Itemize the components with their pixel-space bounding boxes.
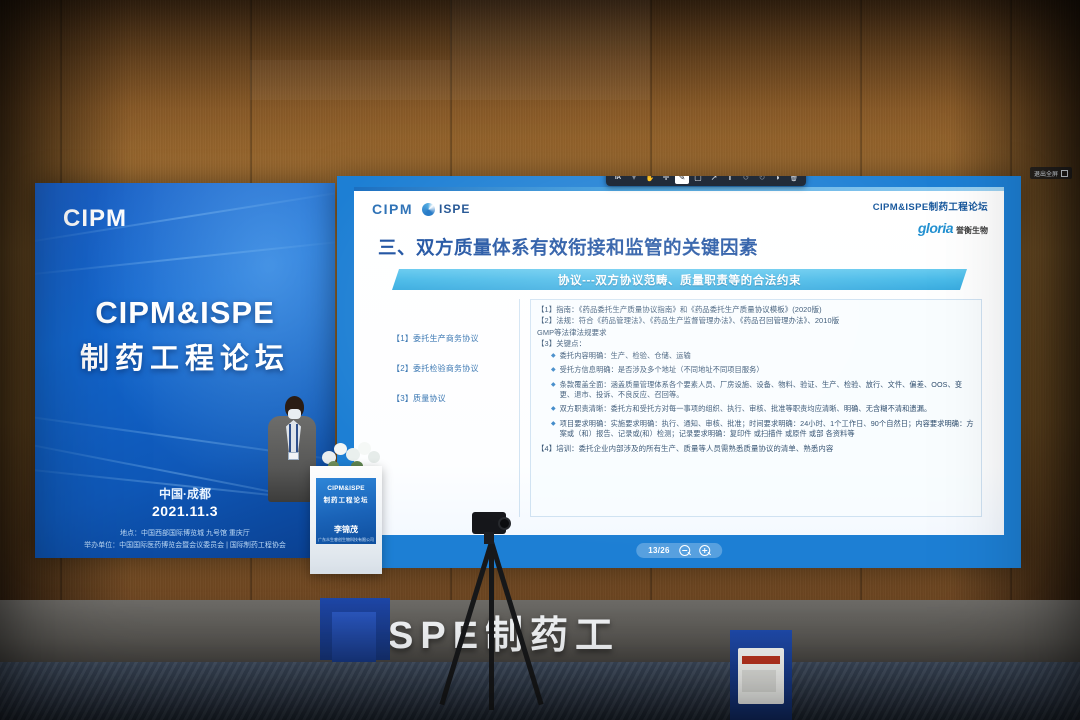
banner-date: 2021.11.3 bbox=[35, 503, 335, 519]
bullet-text: 双方职责清晰：委托方和受托方对每一事项的组织、执行、审核、批准等职责均应清晰、明… bbox=[560, 404, 932, 415]
bullet-list: ◆委托内容明确：生产、检验、仓储、运输 ◆受托方信息明确：是否涉及多个地址（不同… bbox=[551, 351, 975, 440]
list-item: ◆委托内容明确：生产、检验、仓储、运输 bbox=[551, 351, 975, 362]
slide-body: 【1】委托生产商务协议 【2】委托检验商务协议 【3】质量协议 【1】指南：《药… bbox=[392, 299, 982, 517]
ispe-globe-icon bbox=[422, 203, 435, 216]
diamond-bullet-icon: ◆ bbox=[551, 365, 556, 376]
exit-fullscreen-label: 退出全屏 bbox=[1034, 169, 1058, 178]
list-item: 【3】质量协议 bbox=[392, 393, 519, 404]
trash-icon[interactable]: 🗑 bbox=[787, 176, 801, 184]
hand-icon[interactable]: ✋ bbox=[643, 176, 657, 184]
tripod-leg bbox=[489, 542, 494, 710]
signage-accent bbox=[742, 656, 780, 664]
podium-line2: 制药工程论坛 bbox=[324, 494, 369, 504]
slide-content: CIPM ISPE CIPM&ISPE制药工程论坛 gloria 誉衡生物 三、… bbox=[354, 187, 1004, 535]
exit-fullscreen-button[interactable]: 退出全屏 bbox=[1030, 167, 1072, 179]
face-mask bbox=[288, 409, 301, 419]
podium-sign: CIPM&ISPE 制药工程论坛 李锦茂 广东众生睿创生物科技有限公司 bbox=[316, 478, 376, 544]
body-line-1: 【1】指南：《药品委托生产质量协议指南》和《药品委托生产质量协议模板》(2020… bbox=[537, 304, 975, 315]
list-item: ◆双方职责清晰：委托方和受托方对每一事项的组织、执行、审核、批准等职责均应清晰、… bbox=[551, 404, 975, 415]
lanyard bbox=[289, 424, 298, 454]
gloria-wordmark: gloria bbox=[918, 220, 953, 236]
body-line-2b: GMP等法律法规要求 bbox=[537, 327, 975, 338]
camera-lens bbox=[498, 517, 511, 530]
gloria-chinese-name: 誉衡生物 bbox=[956, 225, 988, 236]
slide-top-accent-bar bbox=[354, 187, 1004, 191]
fullscreen-icon bbox=[1061, 170, 1068, 177]
slide-right-column: 【1】指南：《药品委托生产质量协议指南》和《药品委托生产质量协议模板》(2020… bbox=[520, 299, 982, 517]
presentation-screen: IA ▾ ✋ ✛ ✎ ▢ ↗ T ↺ ↻ ◗ 🗑 CIPM ISPE CI bbox=[337, 176, 1021, 568]
bullet-text: 委托内容明确：生产、检验、仓储、运输 bbox=[560, 351, 691, 362]
zoom-out-icon[interactable] bbox=[679, 545, 690, 556]
page-indicator: 13/26 bbox=[648, 546, 670, 555]
banner-organizer: 举办单位：中国国际医药博览会暨会议委员会 | 国际制药工程协会 bbox=[35, 540, 335, 550]
rectangle-icon[interactable]: ▢ bbox=[691, 176, 705, 184]
body-line-3: 【3】关键点： bbox=[537, 338, 975, 349]
list-item: ◆受托方信息明确：是否涉及多个地址（不同地址不同项目服务） bbox=[551, 365, 975, 376]
name-badge bbox=[288, 452, 299, 460]
podium-speaker-org: 广东众生睿创生物科技有限公司 bbox=[318, 537, 374, 543]
move-icon[interactable]: ✛ bbox=[659, 176, 673, 184]
tripod-head bbox=[484, 532, 494, 544]
slide-header-left: CIPM ISPE bbox=[372, 201, 470, 217]
text-icon[interactable]: T bbox=[723, 176, 737, 184]
cipm-logo: CIPM bbox=[63, 205, 127, 233]
annotation-toolbar[interactable]: IA ▾ ✋ ✛ ✎ ▢ ↗ T ↺ ↻ ◗ 🗑 bbox=[606, 176, 806, 186]
pen-icon[interactable]: ✎ bbox=[675, 176, 689, 184]
ispe-label: ISPE bbox=[439, 202, 470, 216]
page-navigation-bar[interactable]: 13/26 bbox=[636, 543, 722, 558]
list-item: 【1】委托生产商务协议 bbox=[392, 333, 519, 344]
list-item: ◆项目要求明确：实施要求明确：执行、通知、审核、批准；时间要求明确：24小时、1… bbox=[551, 419, 975, 441]
diamond-bullet-icon: ◆ bbox=[551, 404, 556, 415]
redo-icon[interactable]: ↻ bbox=[755, 176, 769, 184]
ink-annotation-icon[interactable]: IA bbox=[611, 176, 625, 184]
carpet-floor bbox=[0, 662, 1080, 720]
list-item: 【2】委托检验商务协议 bbox=[392, 363, 519, 374]
slide-section-banner: 协议---双方协议范畴、质量职责等的合法约束 bbox=[392, 269, 967, 290]
body-line-2: 【2】法规：符合《药品管理法》、《药品生产监督管理办法》、《药品召回管理办法》、… bbox=[537, 315, 975, 326]
bullet-text: 条款覆盖全面：涵盖质量管理体系各个要素人员、厂房设施、设备、物料、验证、生产、检… bbox=[560, 380, 975, 402]
list-item: ◆条款覆盖全面：涵盖质量管理体系各个要素人员、厂房设施、设备、物料、验证、生产、… bbox=[551, 380, 975, 402]
slide-title: 三、双方质量体系有效衔接和监管的关键因素 bbox=[378, 234, 758, 260]
arrow-icon[interactable]: ↗ bbox=[707, 176, 721, 184]
slide-text-box: 【1】指南：《药品委托生产质量协议指南》和《药品委托生产质量协议模板》(2020… bbox=[530, 299, 982, 517]
slide-cipm-logo: CIPM bbox=[372, 201, 413, 217]
undo-icon[interactable]: ↺ bbox=[739, 176, 753, 184]
slide-section-banner-text: 协议---双方协议范畴、质量职责等的合法约束 bbox=[558, 272, 801, 288]
banner-title-line1: CIPM&ISPE bbox=[35, 295, 335, 331]
banner-venue: 地点：中国西部国际博览城 九号馆 重庆厅 bbox=[35, 528, 335, 538]
zoom-in-icon[interactable] bbox=[699, 545, 710, 556]
podium-speaker-name: 李锦茂 bbox=[334, 524, 358, 535]
banner-title-line2: 制药工程论坛 bbox=[35, 335, 335, 377]
bullet-text: 受托方信息明确：是否涉及多个地址（不同地址不同项目服务） bbox=[560, 365, 764, 376]
draped-table-left-front bbox=[332, 612, 376, 662]
podium-line1: CIPM&ISPE bbox=[327, 485, 365, 492]
signage-body bbox=[742, 670, 776, 692]
slide-ispe-logo: ISPE bbox=[422, 202, 470, 216]
body-line-4: 【4】培训：委托企业内部涉及的所有生产、质量等人员需熟悉质量协议的清单、熟悉内容 bbox=[537, 443, 975, 454]
sponsor-logo: gloria 誉衡生物 bbox=[873, 220, 988, 236]
slide-left-column: 【1】委托生产商务协议 【2】委托检验商务协议 【3】质量协议 bbox=[392, 299, 520, 517]
diamond-bullet-icon: ◆ bbox=[551, 380, 556, 402]
conference-photo-scene: CIPM CIPM&ISPE 制药工程论坛 中国·成都 2021.11.3 地点… bbox=[0, 0, 1080, 720]
eraser-icon[interactable]: ◗ bbox=[771, 176, 785, 184]
diamond-bullet-icon: ◆ bbox=[551, 351, 556, 362]
chevron-down-icon[interactable]: ▾ bbox=[627, 176, 641, 184]
diamond-bullet-icon: ◆ bbox=[551, 419, 556, 441]
slide-header-right: CIPM&ISPE制药工程论坛 gloria 誉衡生物 bbox=[873, 199, 988, 236]
bullet-text: 项目要求明确：实施要求明确：执行、通知、审核、批准；时间要求明确：24小时、1个… bbox=[560, 419, 975, 441]
slide-forum-name: CIPM&ISPE制药工程论坛 bbox=[873, 199, 988, 213]
